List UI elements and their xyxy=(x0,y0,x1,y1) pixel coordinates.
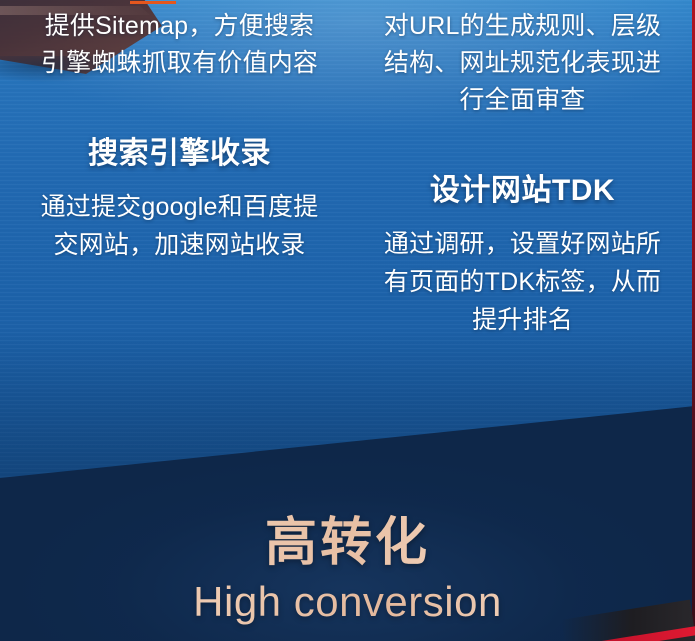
card-top-description: 对URL的生成规则、层级结构、网址规范化表现进行全面审查 xyxy=(381,8,664,119)
footer-headline-chinese: 高转化 xyxy=(0,512,695,574)
feature-card-search-engine-indexing: 提供Sitemap，方便搜索引擎蜘蛛抓取有价值内容 搜索引擎收录 通过提交goo… xyxy=(0,8,347,339)
card-description: 通过调研，设置好网站所有页面的TDK标签，从而提升排名 xyxy=(381,225,664,339)
card-title: 搜索引擎收录 xyxy=(38,134,321,174)
card-description: 通过提交google和百度提交网站，加速网站收录 xyxy=(38,188,321,264)
card-title: 设计网站TDK xyxy=(381,171,664,211)
feature-card-website-tdk-design: 对URL的生成规则、层级结构、网址规范化表现进行全面审查 设计网站TDK 通过调… xyxy=(347,8,694,339)
poster-content: 提供Sitemap，方便搜索引擎蜘蛛抓取有价值内容 搜索引擎收录 通过提交goo… xyxy=(0,0,695,641)
feature-card-row: 提供Sitemap，方便搜索引擎蜘蛛抓取有价值内容 搜索引擎收录 通过提交goo… xyxy=(0,8,695,339)
footer-headline-block: 高转化 High conversion xyxy=(0,512,695,628)
card-top-description: 提供Sitemap，方便搜索引擎蜘蛛抓取有价值内容 xyxy=(38,8,321,82)
footer-headline-english: High conversion xyxy=(0,576,695,628)
promo-poster: 提供Sitemap，方便搜索引擎蜘蛛抓取有价值内容 搜索引擎收录 通过提交goo… xyxy=(0,0,695,641)
